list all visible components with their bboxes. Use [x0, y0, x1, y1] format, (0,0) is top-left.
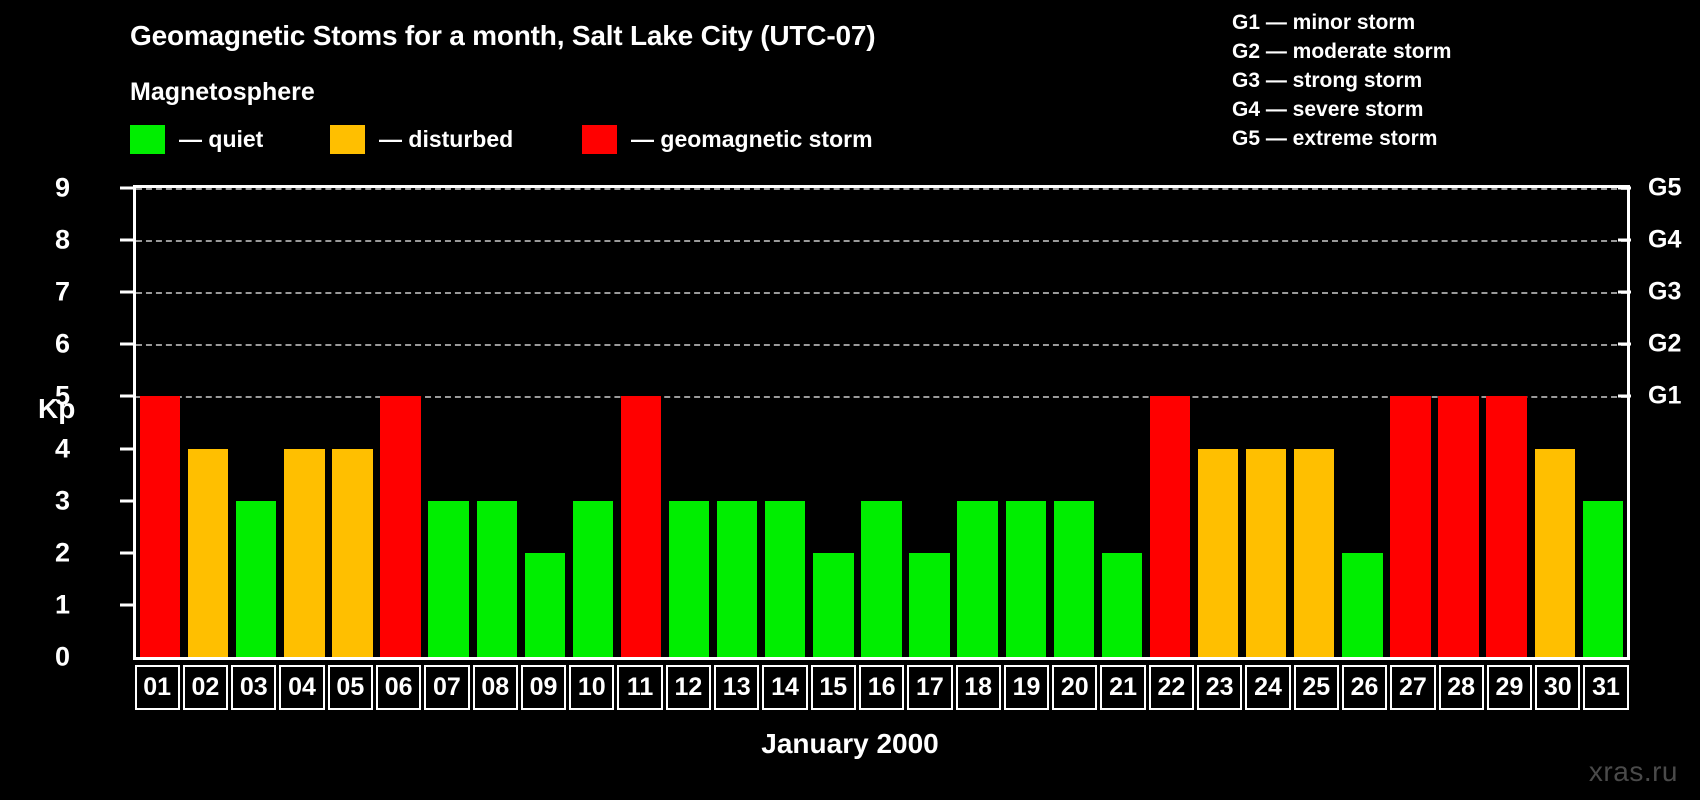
bar-cell-day-17[interactable] — [906, 188, 954, 657]
watermark: xras.ru — [1589, 756, 1678, 788]
bar-cell-day-07[interactable] — [425, 188, 473, 657]
bar-cell-day-21[interactable] — [1098, 188, 1146, 657]
day-label-29[interactable]: 29 — [1487, 665, 1532, 710]
bar-day-19[interactable] — [1006, 501, 1046, 657]
gscale-tick-mark-G4 — [1618, 239, 1631, 242]
bar-cell-day-27[interactable] — [1386, 188, 1434, 657]
day-label-30[interactable]: 30 — [1535, 665, 1580, 710]
day-label-31[interactable]: 31 — [1583, 665, 1628, 710]
day-label-07[interactable]: 07 — [424, 665, 469, 710]
bar-cell-day-09[interactable] — [521, 188, 569, 657]
y-tick-label-7: 7 — [10, 277, 70, 308]
y-tick-label-6: 6 — [10, 329, 70, 360]
bar-day-05[interactable] — [332, 449, 372, 657]
plot-area — [133, 185, 1630, 660]
y-axis-label: Kp — [38, 393, 75, 425]
day-label-05[interactable]: 05 — [328, 665, 373, 710]
bar-cell-day-03[interactable] — [232, 188, 280, 657]
bar-series — [136, 188, 1627, 657]
day-label-13[interactable]: 13 — [714, 665, 759, 710]
y-tick-mark-1 — [120, 603, 133, 606]
bar-cell-day-19[interactable] — [1002, 188, 1050, 657]
day-label-18[interactable]: 18 — [956, 665, 1001, 710]
legend-swatch-red-icon — [582, 125, 617, 154]
gscale-tick-mark-G3 — [1618, 291, 1631, 294]
y-tick-label-0: 0 — [10, 642, 70, 673]
bar-day-11[interactable] — [621, 396, 661, 657]
gscale-key-line-3: G3 — strong storm — [1232, 66, 1451, 95]
gscale-tick-label-G3: G3 — [1648, 278, 1681, 307]
day-label-17[interactable]: 17 — [907, 665, 952, 710]
gscale-key-list: G1 — minor stormG2 — moderate stormG3 — … — [1232, 8, 1451, 153]
gscale-tick-label-G4: G4 — [1648, 226, 1681, 255]
bar-day-21[interactable] — [1102, 553, 1142, 657]
bar-cell-day-02[interactable] — [184, 188, 232, 657]
bar-day-23[interactable] — [1198, 449, 1238, 657]
day-label-14[interactable]: 14 — [762, 665, 807, 710]
day-label-28[interactable]: 28 — [1439, 665, 1484, 710]
legend-label-green: — quiet — [179, 126, 263, 153]
bar-day-26[interactable] — [1342, 553, 1382, 657]
y-tick-label-4: 4 — [10, 433, 70, 464]
day-label-15[interactable]: 15 — [811, 665, 856, 710]
day-label-01[interactable]: 01 — [135, 665, 180, 710]
day-label-22[interactable]: 22 — [1149, 665, 1194, 710]
bar-day-03[interactable] — [236, 501, 276, 657]
plot-inner — [136, 188, 1627, 657]
bar-cell-day-06[interactable] — [376, 188, 424, 657]
y-tick-label-9: 9 — [10, 173, 70, 204]
bar-day-22[interactable] — [1150, 396, 1190, 657]
day-label-06[interactable]: 06 — [376, 665, 421, 710]
legend-item-green: — quiet — [130, 124, 263, 154]
bar-cell-day-20[interactable] — [1050, 188, 1098, 657]
bar-cell-day-25[interactable] — [1290, 188, 1338, 657]
bar-cell-day-12[interactable] — [665, 188, 713, 657]
legend-heading: Magnetosphere — [130, 78, 315, 107]
bar-cell-day-16[interactable] — [857, 188, 905, 657]
bar-cell-day-01[interactable] — [136, 188, 184, 657]
day-label-26[interactable]: 26 — [1342, 665, 1387, 710]
bar-day-30[interactable] — [1535, 449, 1575, 657]
y-tick-mark-3 — [120, 499, 133, 502]
y-tick-label-1: 1 — [10, 589, 70, 620]
day-label-02[interactable]: 02 — [183, 665, 228, 710]
bar-cell-day-13[interactable] — [713, 188, 761, 657]
gscale-tick-label-G5: G5 — [1648, 174, 1681, 203]
y-tick-mark-2 — [120, 551, 133, 554]
bar-day-17[interactable] — [909, 553, 949, 657]
bar-cell-day-10[interactable] — [569, 188, 617, 657]
day-label-12[interactable]: 12 — [666, 665, 711, 710]
bar-cell-day-26[interactable] — [1338, 188, 1386, 657]
day-label-19[interactable]: 19 — [1004, 665, 1049, 710]
day-label-08[interactable]: 08 — [473, 665, 518, 710]
bar-day-15[interactable] — [813, 553, 853, 657]
day-label-16[interactable]: 16 — [859, 665, 904, 710]
legend-item-orange: — disturbed — [330, 124, 513, 154]
gscale-tick-label-G2: G2 — [1648, 330, 1681, 359]
chart-header: Geomagnetic Stoms for a month, Salt Lake… — [0, 0, 1700, 165]
gscale-tick-mark-G5 — [1618, 187, 1631, 190]
legend-label-red: — geomagnetic storm — [631, 126, 873, 153]
bar-day-14[interactable] — [765, 501, 805, 657]
x-axis-label: January 2000 — [0, 728, 1700, 760]
day-label-24[interactable]: 24 — [1245, 665, 1290, 710]
legend-label-orange: — disturbed — [379, 126, 513, 153]
bar-cell-day-24[interactable] — [1242, 188, 1290, 657]
bar-cell-day-14[interactable] — [761, 188, 809, 657]
day-label-23[interactable]: 23 — [1197, 665, 1242, 710]
bar-cell-day-31[interactable] — [1579, 188, 1627, 657]
day-label-20[interactable]: 20 — [1052, 665, 1097, 710]
y-tick-mark-7 — [120, 291, 133, 294]
day-label-21[interactable]: 21 — [1100, 665, 1145, 710]
y-tick-label-3: 3 — [10, 485, 70, 516]
bar-cell-day-11[interactable] — [617, 188, 665, 657]
y-tick-label-2: 2 — [10, 537, 70, 568]
day-label-27[interactable]: 27 — [1390, 665, 1435, 710]
bar-day-18[interactable] — [957, 501, 997, 657]
bar-day-04[interactable] — [284, 449, 324, 657]
day-label-10[interactable]: 10 — [569, 665, 614, 710]
bar-cell-day-08[interactable] — [473, 188, 521, 657]
day-label-25[interactable]: 25 — [1294, 665, 1339, 710]
y-tick-label-8: 8 — [10, 225, 70, 256]
gscale-tick-mark-G2 — [1618, 343, 1631, 346]
bar-day-13[interactable] — [717, 501, 757, 657]
bar-cell-day-04[interactable] — [280, 188, 328, 657]
bar-day-27[interactable] — [1390, 396, 1430, 657]
bar-day-31[interactable] — [1583, 501, 1623, 657]
y-tick-mark-5 — [120, 395, 133, 398]
bar-day-02[interactable] — [188, 449, 228, 657]
bar-cell-day-18[interactable] — [954, 188, 1002, 657]
gscale-tick-label-G1: G1 — [1648, 382, 1681, 411]
y-tick-mark-8 — [120, 239, 133, 242]
bar-day-12[interactable] — [669, 501, 709, 657]
bar-day-01[interactable] — [140, 396, 180, 657]
bar-day-09[interactable] — [525, 553, 565, 657]
gscale-key-line-2: G2 — moderate storm — [1232, 37, 1451, 66]
page-title: Geomagnetic Stoms for a month, Salt Lake… — [130, 20, 875, 52]
bar-cell-day-28[interactable] — [1435, 188, 1483, 657]
legend-swatch-orange-icon — [330, 125, 365, 154]
gscale-key-line-1: G1 — minor storm — [1232, 8, 1451, 37]
bar-day-16[interactable] — [861, 501, 901, 657]
bar-cell-day-23[interactable] — [1194, 188, 1242, 657]
bar-day-06[interactable] — [380, 396, 420, 657]
gscale-key-line-5: G5 — extreme storm — [1232, 124, 1451, 153]
bar-day-24[interactable] — [1246, 449, 1286, 657]
legend-swatch-green-icon — [130, 125, 165, 154]
x-axis-day-labels: 0102030405060708091011121314151617181920… — [133, 665, 1630, 710]
y-tick-mark-6 — [120, 343, 133, 346]
gscale-tick-mark-G1 — [1618, 395, 1631, 398]
day-label-11[interactable]: 11 — [617, 665, 662, 710]
bar-cell-day-22[interactable] — [1146, 188, 1194, 657]
bar-day-28[interactable] — [1438, 396, 1478, 657]
bar-day-25[interactable] — [1294, 449, 1334, 657]
bar-day-29[interactable] — [1486, 396, 1526, 657]
legend-item-red: — geomagnetic storm — [582, 124, 873, 154]
bar-day-08[interactable] — [477, 501, 517, 657]
gscale-key-line-4: G4 — severe storm — [1232, 95, 1451, 124]
bar-cell-day-30[interactable] — [1531, 188, 1579, 657]
bar-day-07[interactable] — [428, 501, 468, 657]
bar-cell-day-29[interactable] — [1483, 188, 1531, 657]
bar-cell-day-15[interactable] — [809, 188, 857, 657]
day-label-09[interactable]: 09 — [521, 665, 566, 710]
y-tick-mark-9 — [120, 187, 133, 190]
bar-day-10[interactable] — [573, 501, 613, 657]
bar-day-20[interactable] — [1054, 501, 1094, 657]
day-label-04[interactable]: 04 — [279, 665, 324, 710]
bar-cell-day-05[interactable] — [328, 188, 376, 657]
day-label-03[interactable]: 03 — [231, 665, 276, 710]
y-tick-mark-4 — [120, 447, 133, 450]
